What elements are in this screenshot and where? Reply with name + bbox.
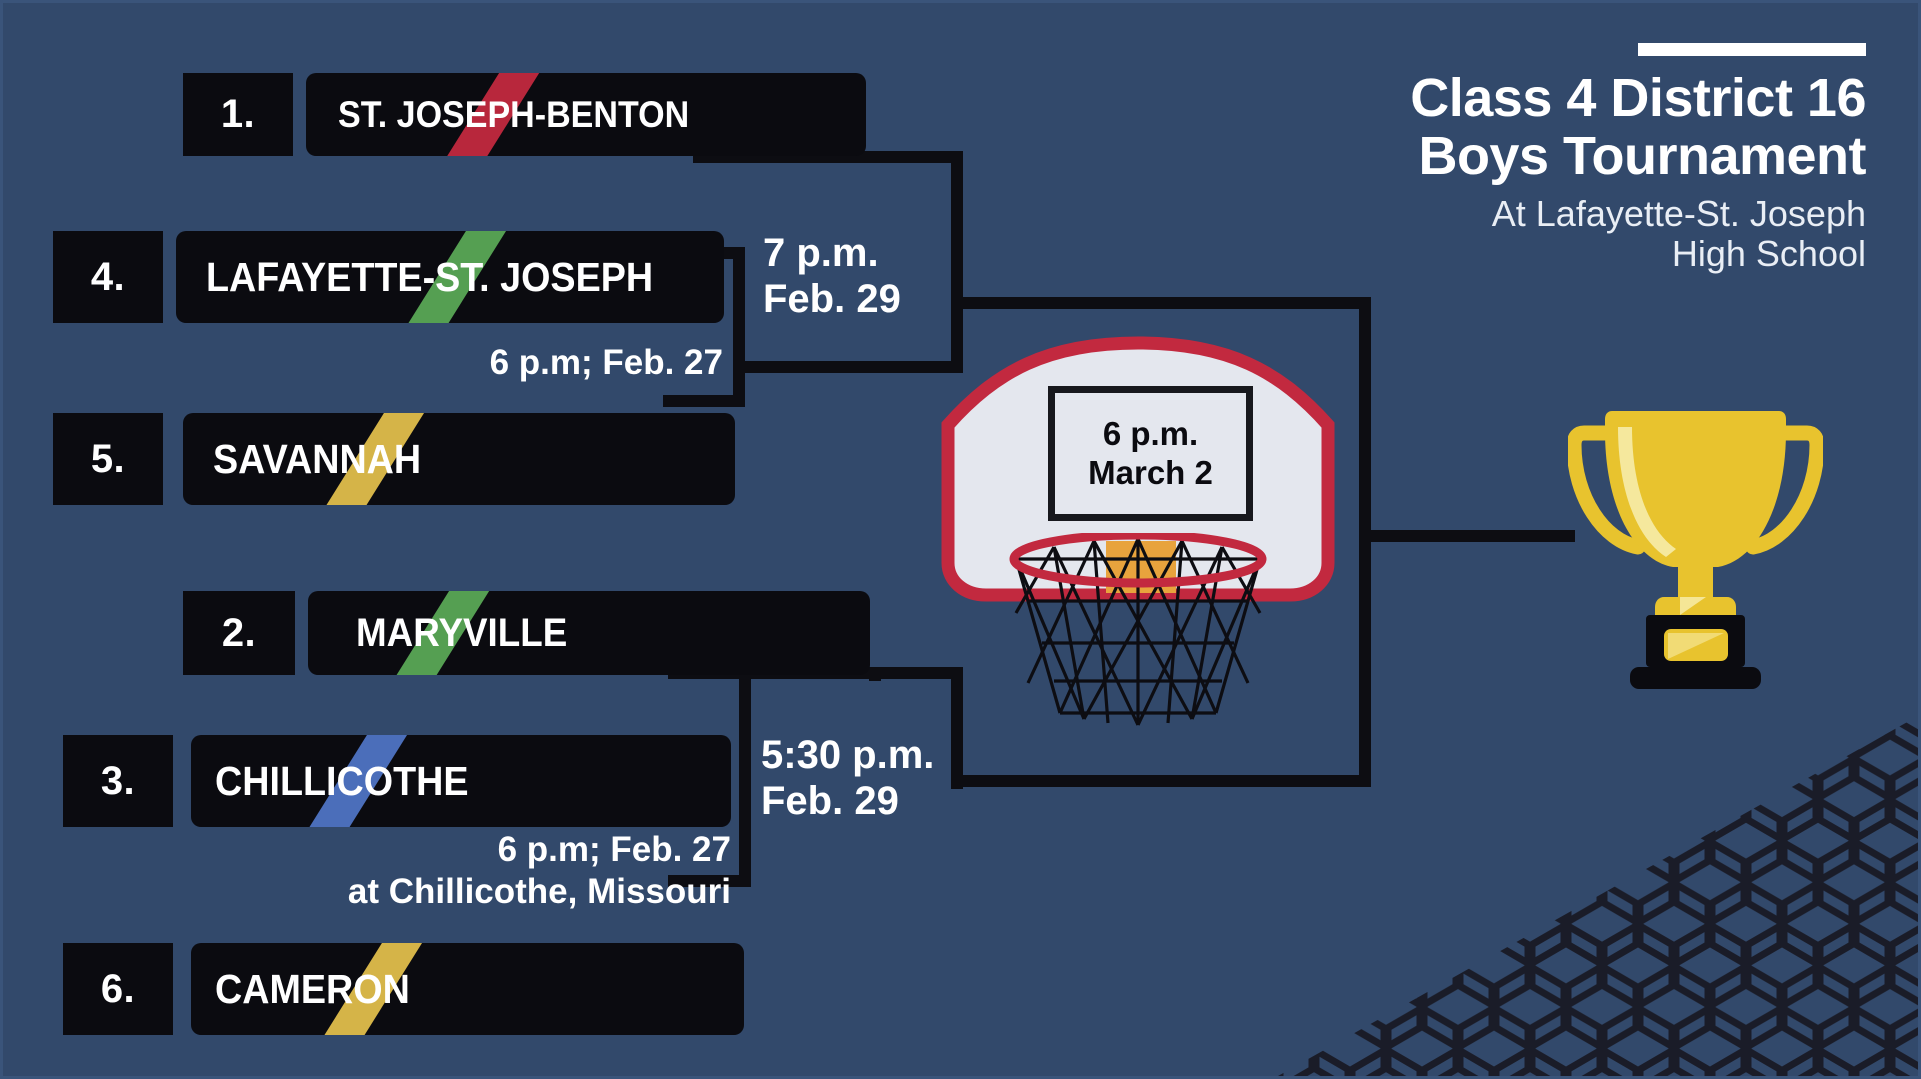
team-row: SAVANNAH bbox=[183, 413, 735, 505]
team-row: ST. JOSEPH-BENTON bbox=[306, 73, 866, 156]
connector-playin-bottom-vert bbox=[739, 667, 751, 887]
connector-final-vert bbox=[1359, 297, 1371, 787]
basketball-hoop-net-icon bbox=[998, 533, 1278, 743]
championship-game-time: 6 p.m. March 2 bbox=[1088, 415, 1213, 493]
connector-final-lower bbox=[951, 775, 1371, 787]
team-name: SAVANNAH bbox=[213, 436, 421, 483]
team-name: CHILLICOTHE bbox=[215, 758, 469, 805]
championship-game-box: 6 p.m. March 2 bbox=[1048, 386, 1253, 521]
page-title: Class 4 District 16 Boys Tournament bbox=[1410, 70, 1866, 186]
team-row: CHILLICOTHE bbox=[191, 735, 731, 827]
seed-badge: 4. bbox=[53, 231, 163, 323]
team-name: LAFAYETTE-ST. JOSEPH bbox=[206, 254, 653, 301]
connector-semi-bottom-stem bbox=[869, 667, 881, 681]
bracket-graphic: Class 4 District 16 Boys Tournament At L… bbox=[0, 0, 1921, 1079]
seed-badge: 2. bbox=[183, 591, 295, 675]
game-time-playin-top: 6 p.m; Feb. 27 bbox=[183, 343, 723, 383]
team-name: CAMERON bbox=[215, 966, 410, 1013]
connector-playin-top-lower bbox=[663, 395, 745, 407]
header: Class 4 District 16 Boys Tournament At L… bbox=[1410, 43, 1866, 274]
team-row: CAMERON bbox=[191, 943, 744, 1035]
seed-badge: 1. bbox=[183, 73, 293, 156]
seed-badge: 5. bbox=[53, 413, 163, 505]
honeycomb-pattern bbox=[1278, 716, 1918, 1076]
seed-badge: 3. bbox=[63, 735, 173, 827]
page-subtitle: At Lafayette-St. Joseph High School bbox=[1410, 194, 1866, 275]
game-time-playin-bottom: 6 p.m; Feb. 27 at Chillicothe, Missouri bbox=[183, 829, 731, 913]
seed-badge: 6. bbox=[63, 943, 173, 1035]
header-rule bbox=[1638, 43, 1866, 56]
connector-final-upper bbox=[951, 297, 1371, 309]
game-time-semifinal-top: 7 p.m. Feb. 29 bbox=[763, 231, 901, 322]
team-row: MARYVILLE bbox=[308, 591, 870, 675]
team-name: MARYVILLE bbox=[356, 611, 567, 656]
team-row: LAFAYETTE-ST. JOSEPH bbox=[176, 231, 724, 323]
connector-playin-top-vert bbox=[733, 247, 745, 407]
team-name: ST. JOSEPH-BENTON bbox=[338, 94, 689, 136]
connector-trophy bbox=[1359, 530, 1575, 542]
trophy-icon bbox=[1568, 401, 1823, 701]
game-time-semifinal-bottom: 5:30 p.m. Feb. 29 bbox=[761, 733, 934, 824]
